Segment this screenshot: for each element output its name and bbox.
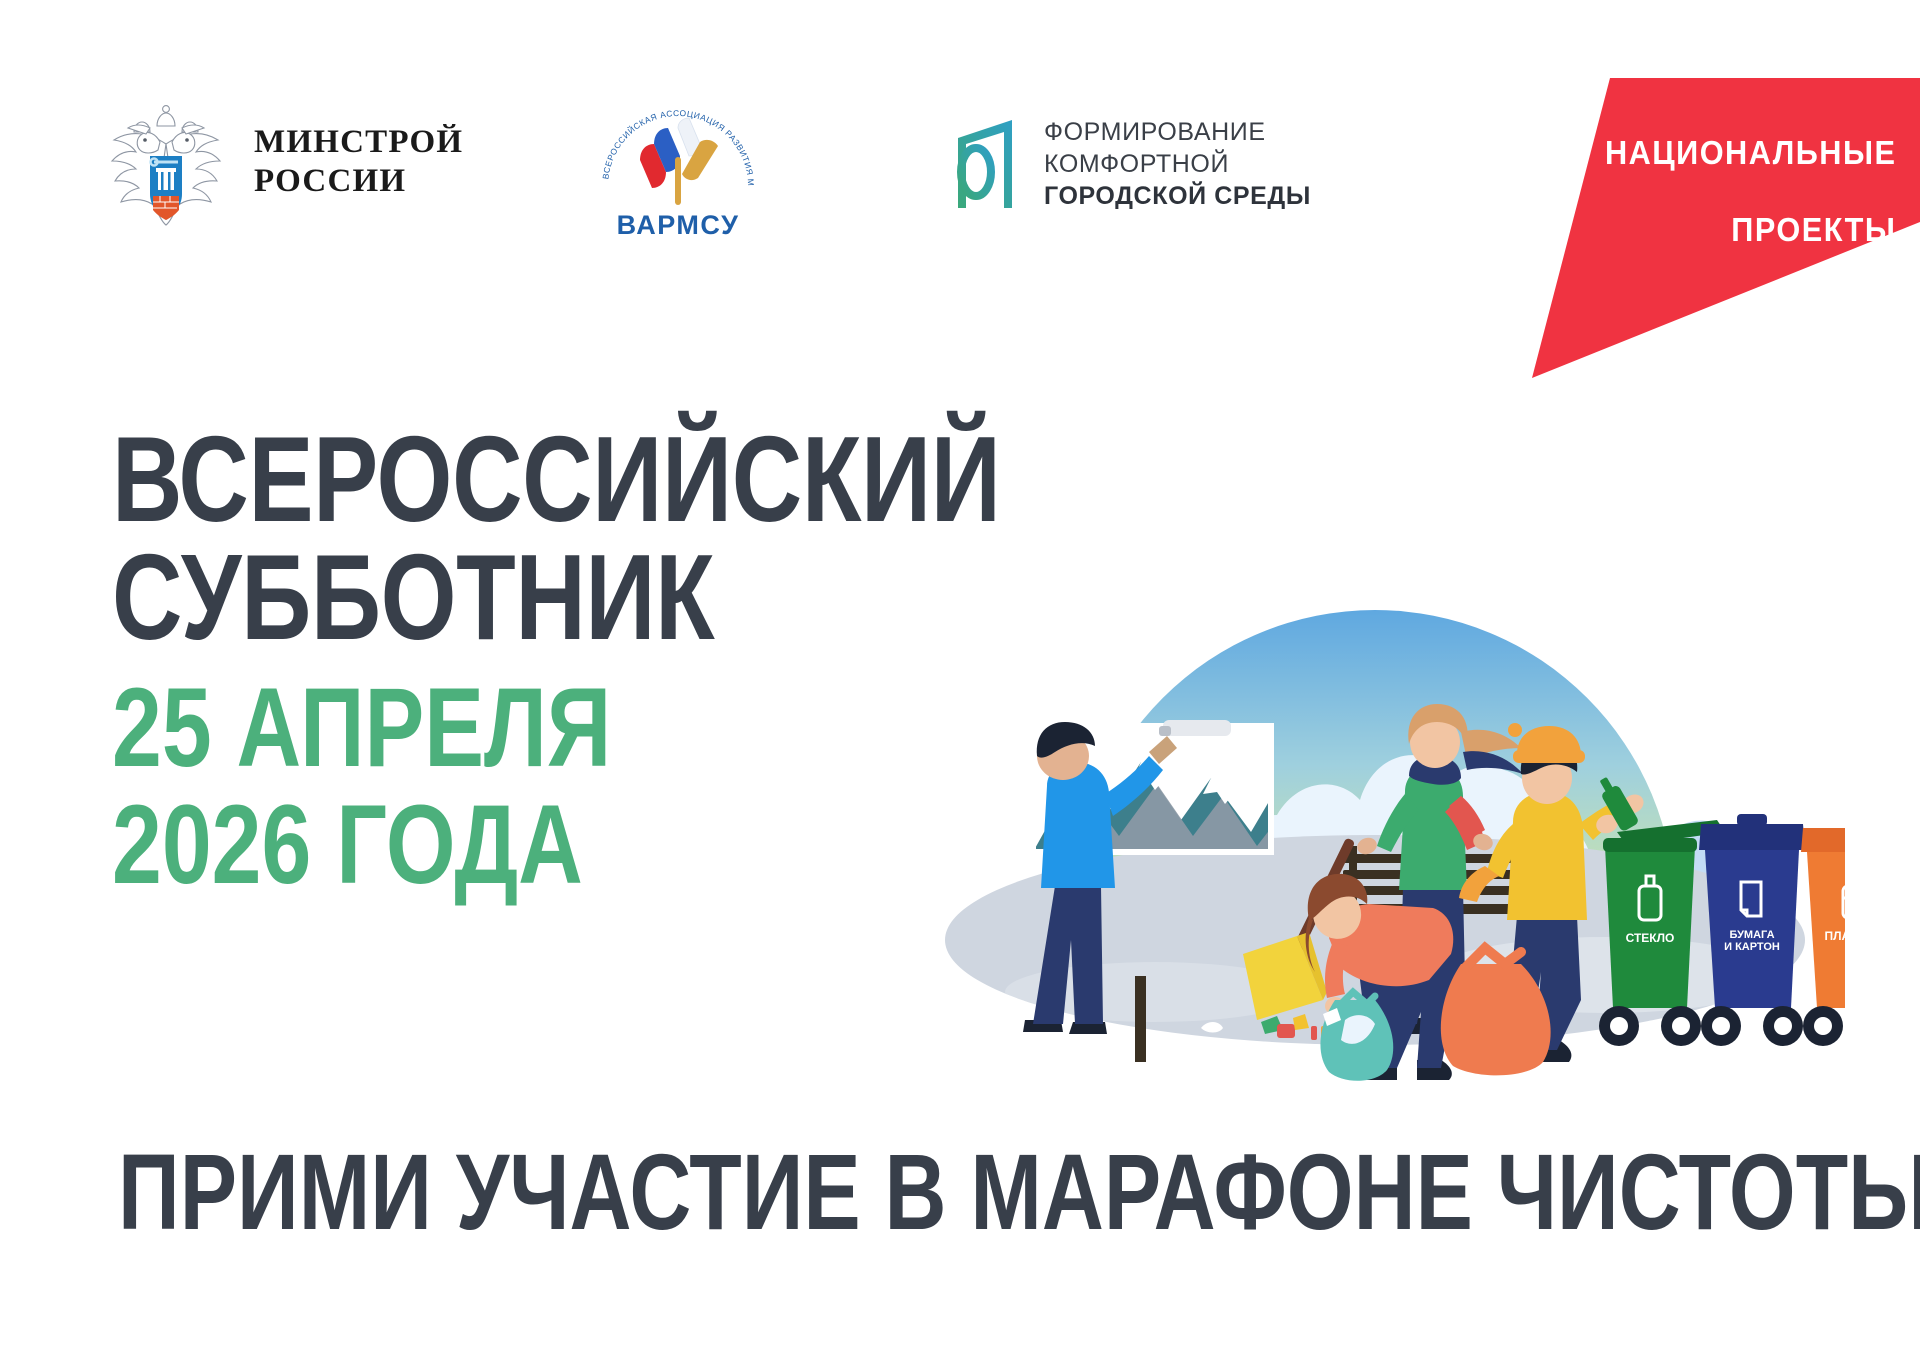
logo-bar: МИНСТРОЙ РОССИИ ВСЕРОССИЙСКАЯ АССОЦИАЦИЯ… [0, 0, 1920, 300]
headline-line-1: ВСЕРОССИЙСКИЙ [112, 420, 832, 538]
minstroy-logo-text: МИНСТРОЙ РОССИИ [254, 123, 463, 201]
sreda-line-1: ФОРМИРОВАНИЕ [1044, 116, 1311, 148]
house-leaf-icon [950, 110, 1022, 222]
sreda-line-3: ГОРОДСКОЙ СРЕДЫ [1044, 180, 1311, 212]
varmsu-abbreviation: ВАРМСУ [588, 210, 768, 241]
natproj-line-3: РОССИИ [1604, 287, 1896, 325]
sreda-logo-text: ФОРМИРОВАНИЕ КОМФОРТНОЙ ГОРОДСКОЙ СРЕДЫ [1044, 110, 1311, 212]
natsionalnye-proekty-rossii-logo: НАЦИОНАЛЬНЫЕ ПРОЕКТЫ РОССИИ [1520, 78, 1920, 378]
date-line-2: 2026 ГОДА [112, 786, 832, 904]
subbotnik-cleanup-illustration: СТЕКЛО БУМАГА И КАРТОН [905, 380, 1845, 1100]
poster-root: МИНСТРОЙ РОССИИ ВСЕРОССИЙСКАЯ АССОЦИАЦИЯ… [0, 0, 1920, 1357]
recycling-bin-paper: БУМАГА И КАРТОН [1699, 814, 1805, 1046]
bin-label-glass: СТЕКЛО [1626, 931, 1675, 945]
cleanup-scene-svg: СТЕКЛО БУМАГА И КАРТОН [905, 380, 1845, 1100]
headline-line-2: СУББОТНИК [112, 538, 832, 656]
natproj-logo-text: НАЦИОНАЛЬНЫЕ ПРОЕКТЫ РОССИИ [1604, 96, 1896, 364]
natproj-line-2: ПРОЕКТЫ [1604, 211, 1896, 249]
natproj-line-1: НАЦИОНАЛЬНЫЕ [1604, 134, 1896, 172]
double-headed-eagle-icon [100, 98, 232, 226]
call-to-action-text: ПРИМИ УЧАСТИЕ В МАРАФОНЕ ЧИСТОТЫ! [118, 1138, 1920, 1246]
bin-label-paper-line2: И КАРТОН [1724, 941, 1780, 953]
recycling-bin-plastic: ПЛАСТИК [1801, 828, 1845, 1046]
date-block: 25 АПРЕЛЯ 2026 ГОДА [112, 669, 1012, 904]
minstroy-rossii-logo: МИНСТРОЙ РОССИИ [100, 98, 463, 226]
headline-block: ВСЕРОССИЙСКИЙ СУББОТНИК 25 АПРЕЛЯ 2026 Г… [112, 420, 1012, 904]
varmsu-logo: ВСЕРОССИЙСКАЯ АССОЦИАЦИЯ РАЗВИТИЯ МЕСТНО… [588, 98, 768, 243]
bin-label-paper-line1: БУМАГА [1729, 929, 1774, 941]
bin-label-plastic: ПЛАСТИК [1824, 929, 1845, 943]
formirovanie-komfortnoy-gorodskoy-sredy-logo: ФОРМИРОВАНИЕ КОМФОРТНОЙ ГОРОДСКОЙ СРЕДЫ [950, 110, 1311, 222]
sreda-line-2: КОМФОРТНОЙ [1044, 148, 1311, 180]
date-line-1: 25 АПРЕЛЯ [112, 669, 832, 787]
